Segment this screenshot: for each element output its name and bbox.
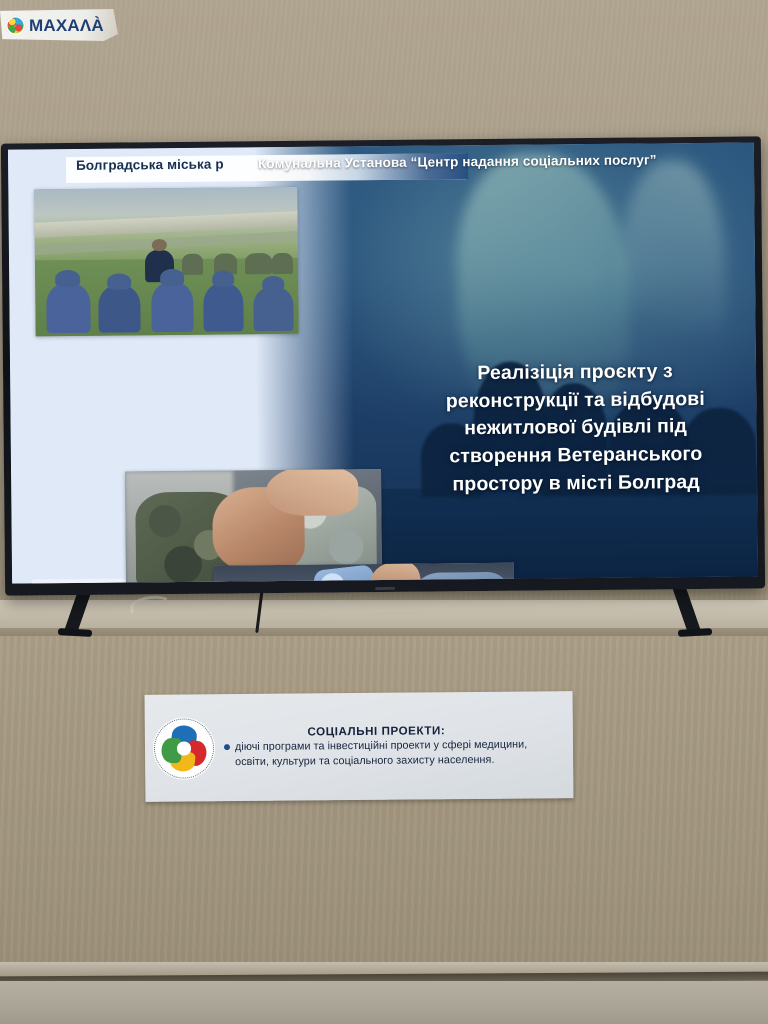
poster-bullet-text: діючі програми та інвестиційні проекти у… [235, 737, 563, 770]
tv-bezel: Болградська міська р Комунальна Установа… [1, 136, 765, 595]
headline-line: нежитлової будівлі під [395, 413, 755, 444]
wall-poster: СОЦІАЛЬНІ ПРОЕКТИ: діючі програми та інв… [145, 691, 574, 802]
social-projects-logo-icon [153, 717, 216, 780]
poster-body: СОЦІАЛЬНІ ПРОЕКТИ: діючі програми та інв… [222, 723, 563, 770]
slide-header-left-text: Болградська міська р [76, 157, 224, 173]
poster-bullet-row: діючі програми та інвестиційні проекти у… [224, 737, 563, 770]
room-scene: Болградська міська р Комунальна Установа… [0, 0, 768, 1024]
presentation-slide: Болградська міська р Комунальна Установа… [8, 142, 758, 583]
floor [0, 981, 768, 1024]
headline-line: простору в місті Болград [396, 468, 756, 499]
watermark: MAXAΛÀ [0, 9, 118, 41]
watermark-label: MAXAΛÀ [29, 17, 104, 34]
tv-screen[interactable]: Болградська міська р Комунальна Установа… [8, 142, 758, 583]
slide-header-right-text: Комунальна Установа “Центр надання соціа… [258, 152, 657, 171]
slide-headline: Реалізіція проєкту з реконструкції та ві… [395, 357, 756, 499]
tv-indicator-light [375, 587, 395, 590]
prosthetic-leg-photo [214, 563, 515, 584]
headline-line: створення Ветеранського [396, 440, 756, 471]
soldiers-training-photo [34, 187, 298, 337]
headline-line: реконструкції та відбудові [395, 385, 755, 416]
television[interactable]: Болградська міська р Комунальна Установа… [3, 140, 763, 592]
headline-line: Реалізіція проєкту з [395, 357, 755, 388]
bullet-icon [224, 744, 230, 750]
globe-icon [6, 16, 25, 35]
lower-wall [0, 636, 768, 966]
